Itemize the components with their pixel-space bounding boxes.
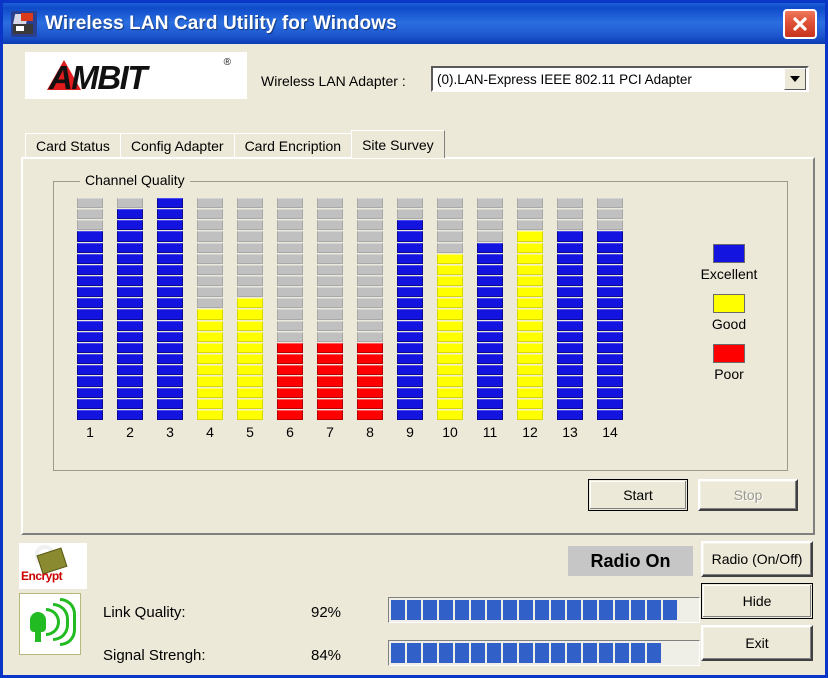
bar-segment [357,209,383,219]
bar-segment [277,243,303,253]
bar-segment [157,388,183,398]
bar-segment [237,309,263,319]
bar-segment [397,332,423,342]
bar-segment [117,410,143,420]
progress-block [599,643,613,663]
bar-segment [237,343,263,353]
progress-block [503,600,517,620]
bar-segment [237,365,263,375]
bar-segment [117,198,143,208]
logo-registered-mark: ® [224,57,231,68]
progress-block [599,600,613,620]
bar-segment [317,265,343,275]
channel-tick-5: 5 [230,424,270,446]
bar-segment [317,309,343,319]
bar-segment [317,287,343,297]
progress-block [519,600,533,620]
bar-segment [517,332,543,342]
bar-segment [277,231,303,241]
channel-tick-8: 8 [350,424,390,446]
channel-bar-column [230,198,270,420]
bar-segment [597,354,623,364]
bar-segment [77,254,103,264]
bar-segment [597,209,623,219]
bar-segment [477,388,503,398]
bar-segment [357,276,383,286]
channel-bars [70,198,630,420]
bar-segment [157,254,183,264]
bar-segment [517,298,543,308]
bar-segment [157,332,183,342]
bar-segment [597,321,623,331]
bar-segment [317,365,343,375]
exit-button[interactable]: Exit [701,625,813,661]
progress-block [663,643,677,663]
bar-segment [157,298,183,308]
progress-block [647,600,661,620]
bar-segment [317,388,343,398]
bar-segment [77,365,103,375]
bar-segment [277,298,303,308]
bar-segment [117,309,143,319]
bar-segment [117,276,143,286]
channel-bar-column [310,198,350,420]
bar-segment [357,220,383,230]
bar-segment [117,332,143,342]
tab-card-encription[interactable]: Card Encription [234,133,353,158]
bar-segment [557,343,583,353]
bar-segment [77,354,103,364]
bar-segment [397,376,423,386]
bar-segment [77,321,103,331]
progress-block [455,643,469,663]
bar-segment [237,332,263,342]
bar-segment [437,309,463,319]
channel-bar-column [390,198,430,420]
start-button[interactable]: Start [588,479,688,511]
bar-segment [157,365,183,375]
progress-block [439,643,453,663]
bar-segment [437,209,463,219]
bar-segment [517,376,543,386]
bar-segment [197,410,223,420]
bar-segment [597,298,623,308]
channel-axis-labels: 1234567891011121314 [70,424,630,446]
bar-segment [117,365,143,375]
bar-segment [157,321,183,331]
bar-segment [597,343,623,353]
encrypt-icon-label: Encrypt [21,569,62,583]
progress-block [487,643,501,663]
channel-tick-2: 2 [110,424,150,446]
bar-segment [157,343,183,353]
bar-segment [397,410,423,420]
link-quality-value: 92% [311,604,341,621]
bar-segment [237,399,263,409]
channel-bar-column [470,198,510,420]
bar-segment [117,243,143,253]
legend-label: Excellent [674,266,784,282]
bar-segment [557,354,583,364]
bar-segment [237,243,263,253]
bar-segment [157,231,183,241]
progress-block [551,600,565,620]
bar-segment [197,365,223,375]
tab-config-adapter[interactable]: Config Adapter [120,133,235,158]
bar-segment [197,399,223,409]
bar-segment [397,198,423,208]
channel-bar-2 [117,198,143,420]
bar-segment [517,399,543,409]
bar-segment [317,243,343,253]
channel-tick-14: 14 [590,424,630,446]
bar-segment [597,410,623,420]
bar-segment [277,287,303,297]
bar-segment [357,287,383,297]
bar-segment [317,220,343,230]
channel-bar-column [110,198,150,420]
hide-button[interactable]: Hide [701,583,813,619]
bar-segment [237,376,263,386]
bar-segment [77,265,103,275]
progress-block [631,643,645,663]
bar-segment [197,265,223,275]
bar-segment [517,220,543,230]
bar-segment [397,298,423,308]
bar-segment [397,388,423,398]
bar-segment [357,332,383,342]
bar-segment [197,298,223,308]
bar-segment [357,399,383,409]
bar-segment [557,410,583,420]
tab-label: Config Adapter [131,138,224,154]
bar-segment [317,198,343,208]
channel-quality-groupbox: Channel Quality 1234567891011121314 Exce… [53,181,788,471]
bar-segment [517,321,543,331]
bar-segment [117,343,143,353]
bar-segment [317,343,343,353]
bar-segment [437,376,463,386]
channel-bar-11 [477,198,503,420]
bar-segment [597,365,623,375]
channel-tick-7: 7 [310,424,350,446]
signal-strength-label: Signal Strengh: [103,647,206,664]
bar-segment [477,198,503,208]
bar-segment [437,399,463,409]
progress-block [535,643,549,663]
channel-tick-13: 13 [550,424,590,446]
bar-segment [197,220,223,230]
bar-segment [77,231,103,241]
channel-bar-13 [557,198,583,420]
chart-legend: ExcellentGoodPoor [674,244,784,394]
bar-segment [117,231,143,241]
progress-block [455,600,469,620]
progress-block [439,600,453,620]
channel-tick-10: 10 [430,424,470,446]
bar-segment [197,254,223,264]
progress-block [487,600,501,620]
bar-segment [517,354,543,364]
bar-segment [477,231,503,241]
bar-segment [277,376,303,386]
channel-tick-9: 9 [390,424,430,446]
bar-segment [437,321,463,331]
bar-segment [437,220,463,230]
bar-segment [557,298,583,308]
bar-segment [77,287,103,297]
bar-segment [597,388,623,398]
bar-segment [437,343,463,353]
bar-segment [277,209,303,219]
tab-label: Card Encription [245,138,342,154]
legend-item-poor: Poor [674,344,784,382]
bar-segment [237,276,263,286]
bar-segment [277,332,303,342]
window-title: Wireless LAN Card Utility for Windows [45,13,397,35]
bar-segment [357,321,383,331]
bar-segment [317,321,343,331]
bar-segment [237,231,263,241]
adapter-select[interactable]: (0).LAN-Express IEEE 802.11 PCI Adapter [431,66,809,92]
bar-segment [397,220,423,230]
progress-block [423,643,437,663]
bar-segment [77,298,103,308]
radio-toggle-button[interactable]: Radio (On/Off) [701,541,813,577]
bar-segment [157,287,183,297]
bar-segment [397,365,423,375]
bar-segment [557,209,583,219]
bar-segment [277,354,303,364]
bar-segment [117,399,143,409]
bar-segment [277,399,303,409]
bar-segment [477,309,503,319]
bar-segment [77,220,103,230]
close-button[interactable] [783,9,817,39]
bar-segment [277,388,303,398]
channel-bar-column [270,198,310,420]
bar-segment [597,332,623,342]
legend-label: Good [674,316,784,332]
bar-segment [237,321,263,331]
progress-block [551,643,565,663]
bar-segment [397,209,423,219]
bar-segment [437,287,463,297]
bar-segment [357,354,383,364]
bar-segment [157,265,183,275]
bar-segment [517,365,543,375]
bar-segment [117,298,143,308]
bar-segment [157,410,183,420]
channel-bar-14 [597,198,623,420]
bar-segment [477,376,503,386]
channel-bar-column [190,198,230,420]
progress-block [407,600,421,620]
tab-site-survey[interactable]: Site Survey [351,130,445,158]
bar-segment [437,198,463,208]
bar-segment [197,243,223,253]
bar-segment [237,254,263,264]
bar-segment [437,276,463,286]
bar-segment [117,220,143,230]
bar-segment [597,243,623,253]
channel-tick-6: 6 [270,424,310,446]
bar-segment [477,321,503,331]
bar-segment [197,321,223,331]
bar-segment [597,287,623,297]
bar-segment [357,343,383,353]
legend-label: Poor [674,366,784,382]
logo-wordmark: AMBIT [49,59,146,97]
bar-segment [357,410,383,420]
bar-segment [397,343,423,353]
channel-bar-column [510,198,550,420]
bar-segment [317,410,343,420]
bar-segment [317,254,343,264]
bar-segment [477,254,503,264]
bar-segment [277,343,303,353]
bar-segment [317,399,343,409]
bar-segment [77,410,103,420]
title-bar: Wireless LAN Card Utility for Windows [3,3,825,44]
stop-button: Stop [698,479,798,511]
bar-segment [77,376,103,386]
bar-segment [357,298,383,308]
progress-block [583,600,597,620]
channel-quality-chart: 1234567891011121314 [70,198,630,448]
bar-segment [597,399,623,409]
bar-segment [357,198,383,208]
tab-card-status[interactable]: Card Status [25,133,121,158]
legend-item-good: Good [674,294,784,332]
bar-segment [557,198,583,208]
bar-segment [597,265,623,275]
bar-segment [557,265,583,275]
bar-segment [117,354,143,364]
bar-segment [437,354,463,364]
bar-segment [557,254,583,264]
bar-segment [477,287,503,297]
bar-segment [477,332,503,342]
bar-segment [517,410,543,420]
channel-bar-7 [317,198,343,420]
bar-segment [357,376,383,386]
bar-segment [437,298,463,308]
adapter-label: Wireless LAN Adapter : [261,73,406,89]
bar-segment [517,198,543,208]
bar-segment [237,209,263,219]
bar-segment [197,209,223,219]
bar-segment [557,321,583,331]
progress-block [407,643,421,663]
progress-block [583,643,597,663]
bar-segment [197,198,223,208]
bar-segment [237,354,263,364]
bar-segment [597,198,623,208]
bar-segment [397,231,423,241]
bar-segment [117,376,143,386]
progress-block [535,600,549,620]
ambit-logo: AMBIT ® [25,52,247,99]
bar-segment [157,198,183,208]
bar-segment [77,276,103,286]
bar-segment [157,399,183,409]
bar-segment [437,410,463,420]
bar-segment [117,287,143,297]
progress-block [391,600,405,620]
bar-segment [77,332,103,342]
bar-segment [197,354,223,364]
wireless-lan-utility-window: Wireless LAN Card Utility for Windows AM… [0,0,828,678]
bar-segment [277,254,303,264]
bar-segment [597,254,623,264]
bar-segment [477,265,503,275]
bar-segment [157,243,183,253]
channel-bar-3 [157,198,183,420]
channel-bar-4 [197,198,223,420]
bar-segment [197,309,223,319]
bar-segment [157,376,183,386]
bar-segment [357,254,383,264]
bar-segment [437,365,463,375]
progress-block [679,600,693,620]
channel-tick-11: 11 [470,424,510,446]
bar-segment [517,209,543,219]
adapter-selected-value: (0).LAN-Express IEEE 802.11 PCI Adapter [433,72,784,87]
bar-segment [517,254,543,264]
link-quality-progressbar [388,597,700,623]
bar-segment [357,388,383,398]
channel-tick-4: 4 [190,424,230,446]
channel-tick-3: 3 [150,424,190,446]
bar-segment [77,399,103,409]
progress-block [503,643,517,663]
bar-segment [117,209,143,219]
progress-block [695,600,700,620]
progress-block [519,643,533,663]
encrypt-lock-icon: Encrypt [19,543,87,589]
bar-segment [397,354,423,364]
bar-segment [237,410,263,420]
channel-bar-12 [517,198,543,420]
channel-bar-column [550,198,590,420]
bar-segment [557,399,583,409]
bar-segment [517,287,543,297]
progress-block [647,643,661,663]
bar-segment [437,254,463,264]
bar-segment [117,265,143,275]
bar-segment [317,298,343,308]
bar-segment [197,287,223,297]
bar-segment [517,265,543,275]
channel-bar-5 [237,198,263,420]
bar-segment [317,332,343,342]
bar-segment [397,321,423,331]
bar-segment [557,287,583,297]
progress-block [567,643,581,663]
channel-bar-1 [77,198,103,420]
bar-segment [477,276,503,286]
bar-segment [357,243,383,253]
chevron-down-icon[interactable] [784,68,806,90]
bar-segment [517,243,543,253]
bar-segment [317,209,343,219]
bar-segment [237,388,263,398]
signal-strength-progressbar [388,640,700,666]
bar-segment [597,276,623,286]
bar-segment [237,220,263,230]
tab-label: Card Status [36,138,110,154]
